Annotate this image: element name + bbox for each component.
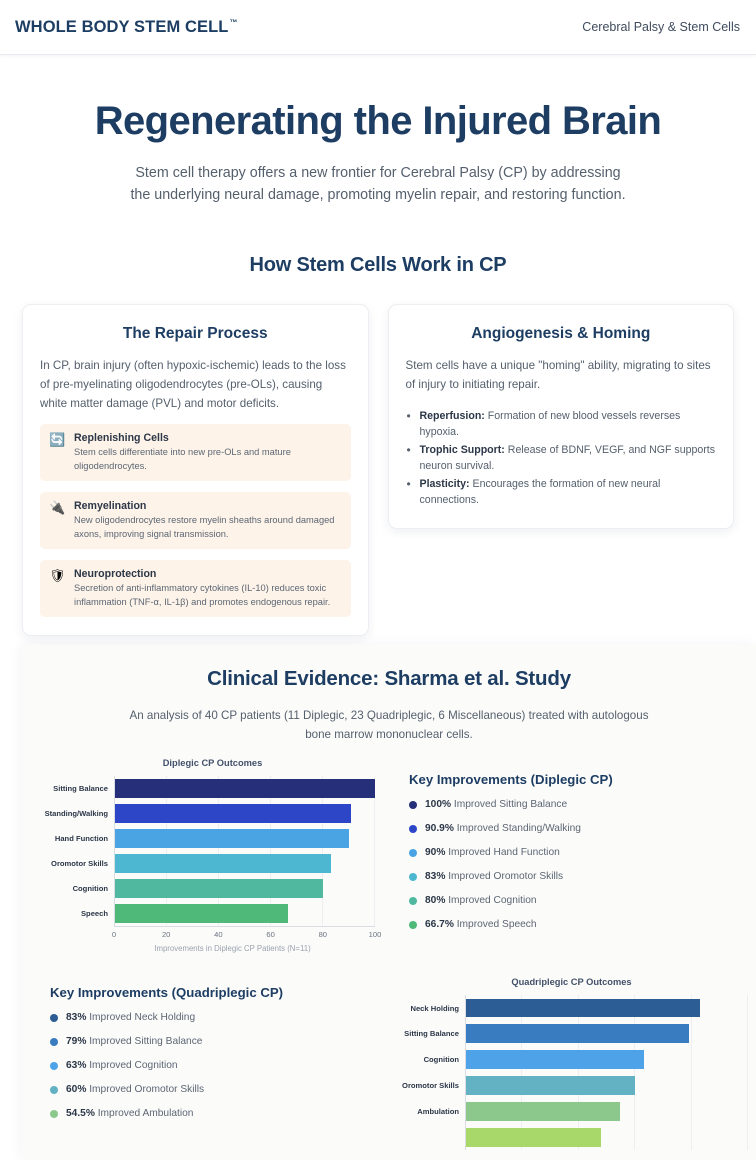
key-improvement-value: 83% — [66, 1012, 86, 1023]
legend-dot-icon — [50, 1086, 58, 1094]
chart-category-label: Neck Holding — [395, 995, 465, 1021]
legend-dot-icon — [50, 1110, 58, 1118]
chart-x-tick: 40 — [214, 930, 222, 939]
feature-title: Remyelination — [74, 500, 342, 512]
feature-title: Replenishing Cells — [74, 432, 342, 444]
legend-dot-icon — [50, 1038, 58, 1046]
chart-quadriplegic: Quadriplegic CP Outcomes Neck HoldingSit… — [395, 977, 748, 1150]
mechanism-section-title: How Stem Cells Work in CP — [0, 254, 756, 277]
chart-x-tick: 0 — [112, 930, 116, 939]
chart-bar-row — [115, 901, 375, 926]
legend-dot-icon — [409, 801, 417, 809]
chart-x-tick: 100 — [369, 930, 382, 939]
site-header: WHOLE BODY STEM CELL™ Cerebral Palsy & S… — [0, 0, 756, 55]
chart-bar-row — [466, 1098, 748, 1124]
list-item: 66.7% Improved Speech — [409, 919, 744, 930]
repair-process-body: In CP, brain injury (often hypoxic-ische… — [40, 357, 351, 413]
key-improvement-text: 90.9% Improved Standing/Walking — [425, 823, 581, 834]
chart-category-label: Oromotor Skills — [395, 1073, 465, 1099]
key-improvements-list: 83% Improved Neck Holding79% Improved Si… — [50, 1012, 379, 1119]
chart-bar-row — [466, 1047, 748, 1073]
key-improvement-text: 54.5% Improved Ambulation — [66, 1108, 193, 1119]
angiogenesis-card: Angiogenesis & Homing Stem cells have a … — [388, 304, 735, 529]
chart-bar — [115, 904, 288, 922]
chart-bar-row — [466, 995, 748, 1021]
mechanism-cards: The Repair Process In CP, brain injury (… — [0, 304, 756, 636]
chart-x-tick: 20 — [162, 930, 170, 939]
repair-process-title: The Repair Process — [40, 325, 351, 343]
chart-plot-area — [114, 776, 375, 926]
feature-item: 🔌 Remyelination New oligodendrocytes res… — [40, 492, 351, 549]
key-improvement-value: 90.9% — [425, 823, 454, 834]
key-improvements-quadriplegic: Key Improvements (Quadriplegic CP) 83% I… — [46, 985, 379, 1119]
key-improvement-value: 63% — [66, 1060, 86, 1071]
feature-title: Neuroprotection — [74, 568, 342, 580]
chart-bar — [466, 1024, 689, 1043]
chart-x-tick: 60 — [266, 930, 274, 939]
evidence-title: Clinical Evidence: Sharma et al. Study — [22, 645, 756, 691]
key-improvement-value: 83% — [425, 871, 445, 882]
recycle-icon: 🔄 — [49, 432, 65, 448]
key-improvements-list: 100% Improved Sitting Balance90.9% Impro… — [409, 799, 744, 930]
angiogenesis-body: Stem cells have a unique "homing" abilit… — [406, 357, 717, 395]
chart-category-label: Cognition — [395, 1047, 465, 1073]
key-improvement-text: 100% Improved Sitting Balance — [425, 799, 567, 810]
key-improvement-value: 54.5% — [66, 1108, 95, 1119]
chart-title: Quadriplegic CP Outcomes — [395, 977, 748, 987]
chart-category-label: Speech — [50, 901, 114, 926]
evidence-row-diplegic: Diplegic CP Outcomes Sitting BalanceStan… — [22, 758, 756, 953]
chart-bar-row — [466, 1073, 748, 1099]
chart-bar-row — [115, 826, 375, 851]
shield-icon: 🛡 — [49, 568, 65, 584]
list-item: Plasticity: Encourages the formation of … — [406, 476, 717, 508]
chart-bar — [115, 854, 331, 872]
legend-dot-icon — [409, 921, 417, 929]
key-improvement-text: 83% Improved Neck Holding — [66, 1012, 195, 1023]
bullet-term: Trophic Support: — [420, 444, 505, 456]
bullet-term: Plasticity: — [420, 478, 470, 490]
hero-subtitle: Stem cell therapy offers a new frontier … — [126, 162, 631, 206]
legend-dot-icon — [50, 1062, 58, 1070]
brand-name: WHOLE BODY STEM CELL — [15, 18, 228, 36]
angiogenesis-title: Angiogenesis & Homing — [406, 325, 717, 343]
list-item: 90.9% Improved Standing/Walking — [409, 823, 744, 834]
key-improvement-value: 80% — [425, 895, 445, 906]
chart-category-label: Sitting Balance — [50, 776, 114, 801]
page-root: WHOLE BODY STEM CELL™ Cerebral Palsy & S… — [0, 0, 756, 1160]
brand-logo[interactable]: WHOLE BODY STEM CELL™ — [15, 18, 238, 37]
chart-bar — [466, 1050, 644, 1069]
feature-desc: Secretion of anti-inflammatory cytokines… — [74, 582, 342, 609]
key-improvement-text: 80% Improved Cognition — [425, 895, 537, 906]
chart-bar — [466, 999, 700, 1018]
list-item: 83% Improved Neck Holding — [50, 1012, 379, 1023]
chart-x-tick: 80 — [319, 930, 327, 939]
key-improvement-text: 90% Improved Hand Function — [425, 847, 560, 858]
chart-category-label: Standing/Walking — [50, 801, 114, 826]
header-subject-label: Cerebral Palsy & Stem Cells — [582, 20, 740, 34]
key-improvement-value: 66.7% — [425, 919, 454, 930]
key-improvement-text: 63% Improved Cognition — [66, 1060, 178, 1071]
key-improvement-value: 60% — [66, 1084, 86, 1095]
chart-bar-row — [115, 776, 375, 801]
key-improvement-text: 83% Improved Oromotor Skills — [425, 871, 563, 882]
list-item: 63% Improved Cognition — [50, 1060, 379, 1071]
plug-icon: 🔌 — [49, 500, 65, 516]
key-improvements-title: Key Improvements (Quadriplegic CP) — [50, 985, 379, 1000]
key-improvement-value: 79% — [66, 1036, 86, 1047]
chart-bar — [466, 1128, 601, 1147]
list-item: 83% Improved Oromotor Skills — [409, 871, 744, 882]
chart-bar-row — [466, 1124, 748, 1150]
chart-bar — [115, 879, 323, 897]
chart-bar — [466, 1076, 635, 1095]
chart-category-label: Oromotor Skills — [50, 851, 114, 876]
trademark-symbol: ™ — [229, 18, 237, 27]
chart-diplegic: Diplegic CP Outcomes Sitting BalanceStan… — [50, 758, 375, 953]
chart-category-label: Ambulation — [395, 1098, 465, 1124]
feature-desc: New oligodendrocytes restore myelin shea… — [74, 514, 342, 541]
chart-bar-row — [115, 851, 375, 876]
key-improvement-value: 90% — [425, 847, 445, 858]
list-item: 90% Improved Hand Function — [409, 847, 744, 858]
chart-bar-row — [115, 801, 375, 826]
key-improvement-text: 60% Improved Oromotor Skills — [66, 1084, 204, 1095]
chart-bar — [115, 829, 349, 847]
chart-category-labels: Neck HoldingSitting BalanceCognitionOrom… — [395, 995, 465, 1150]
clinical-evidence-section: Clinical Evidence: Sharma et al. Study A… — [22, 645, 756, 1160]
evidence-row-quadriplegic: Key Improvements (Quadriplegic CP) 83% I… — [22, 977, 756, 1150]
chart-category-label — [395, 1124, 465, 1150]
key-improvement-text: 79% Improved Sitting Balance — [66, 1036, 202, 1047]
chart-bar — [115, 779, 375, 797]
list-item: Reperfusion: Formation of new blood vess… — [406, 408, 717, 440]
feature-item: 🛡 Neuroprotection Secretion of anti-infl… — [40, 560, 351, 617]
key-improvements-diplegic: Key Improvements (Diplegic CP) 100% Impr… — [405, 772, 744, 930]
legend-dot-icon — [409, 873, 417, 881]
chart-category-label: Sitting Balance — [395, 1021, 465, 1047]
list-item: 79% Improved Sitting Balance — [50, 1036, 379, 1047]
legend-dot-icon — [50, 1014, 58, 1022]
feature-item: 🔄 Replenishing Cells Stem cells differen… — [40, 424, 351, 481]
list-item: Trophic Support: Release of BDNF, VEGF, … — [406, 442, 717, 474]
hero-section: Regenerating the Injured Brain Stem cell… — [0, 55, 756, 206]
chart-category-labels: Sitting BalanceStanding/WalkingHand Func… — [50, 776, 114, 926]
bullet-term: Reperfusion: — [420, 410, 485, 422]
key-improvement-value: 100% — [425, 799, 451, 810]
chart-bar-row — [466, 1021, 748, 1047]
list-item: 80% Improved Cognition — [409, 895, 744, 906]
page-title: Regenerating the Injured Brain — [0, 99, 756, 144]
chart-category-label: Hand Function — [50, 826, 114, 851]
chart-plot-area — [465, 995, 748, 1150]
evidence-lede: An analysis of 40 CP patients (11 Dipleg… — [124, 707, 654, 744]
key-improvement-text: 66.7% Improved Speech — [425, 919, 537, 930]
list-item: 100% Improved Sitting Balance — [409, 799, 744, 810]
chart-title: Diplegic CP Outcomes — [50, 758, 375, 768]
chart-bar-row — [115, 876, 375, 901]
repair-process-card: The Repair Process In CP, brain injury (… — [22, 304, 369, 636]
legend-dot-icon — [409, 849, 417, 857]
legend-dot-icon — [409, 825, 417, 833]
legend-dot-icon — [409, 897, 417, 905]
angiogenesis-bullet-list: Reperfusion: Formation of new blood vess… — [406, 408, 717, 509]
chart-bar — [466, 1102, 620, 1121]
chart-x-axis: 020406080100 — [114, 926, 375, 941]
feature-desc: Stem cells differentiate into new pre-OL… — [74, 446, 342, 473]
list-item: 54.5% Improved Ambulation — [50, 1108, 379, 1119]
chart-x-caption: Improvements in Diplegic CP Patients (N=… — [50, 944, 375, 953]
chart-category-label: Cognition — [50, 876, 114, 901]
chart-bar — [115, 804, 351, 822]
key-improvements-title: Key Improvements (Diplegic CP) — [409, 772, 744, 787]
list-item: 60% Improved Oromotor Skills — [50, 1084, 379, 1095]
